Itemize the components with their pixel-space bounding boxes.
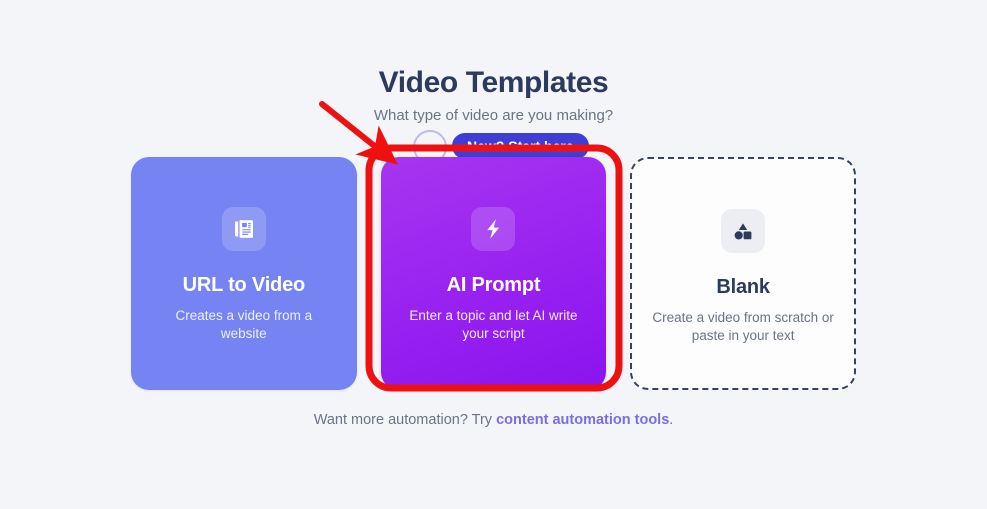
lightning-bolt-icon [471,207,515,251]
video-templates-screen: Video Templates What type of video are y… [0,0,987,509]
start-here-badge[interactable]: New? Start here [452,133,589,159]
template-card-url-to-video[interactable]: URL to Video Creates a video from a webs… [131,157,357,390]
content-automation-tools-link[interactable]: content automation tools [496,412,669,428]
template-cards-row: URL to Video Creates a video from a webs… [131,157,856,390]
card-description: Create a video from scratch or paste in … [644,309,842,345]
shapes-icon [721,209,765,253]
footer-text-suffix: . [669,412,673,428]
footer-text-prefix: Want more automation? Try [314,412,496,428]
card-title: AI Prompt [447,274,541,297]
card-description: Creates a video from a website [153,307,335,343]
card-title: Blank [716,276,769,299]
page-title: Video Templates [0,66,987,100]
newspaper-article-icon [222,207,266,251]
card-description: Enter a topic and let AI write your scri… [402,307,584,343]
template-card-ai-prompt[interactable]: AI Prompt Enter a topic and let AI write… [381,157,607,390]
template-card-blank[interactable]: Blank Create a video from scratch or pas… [630,157,856,390]
footer-note: Want more automation? Try content automa… [0,412,987,428]
page-subtitle: What type of video are you making? [0,107,987,124]
card-title: URL to Video [183,274,305,297]
